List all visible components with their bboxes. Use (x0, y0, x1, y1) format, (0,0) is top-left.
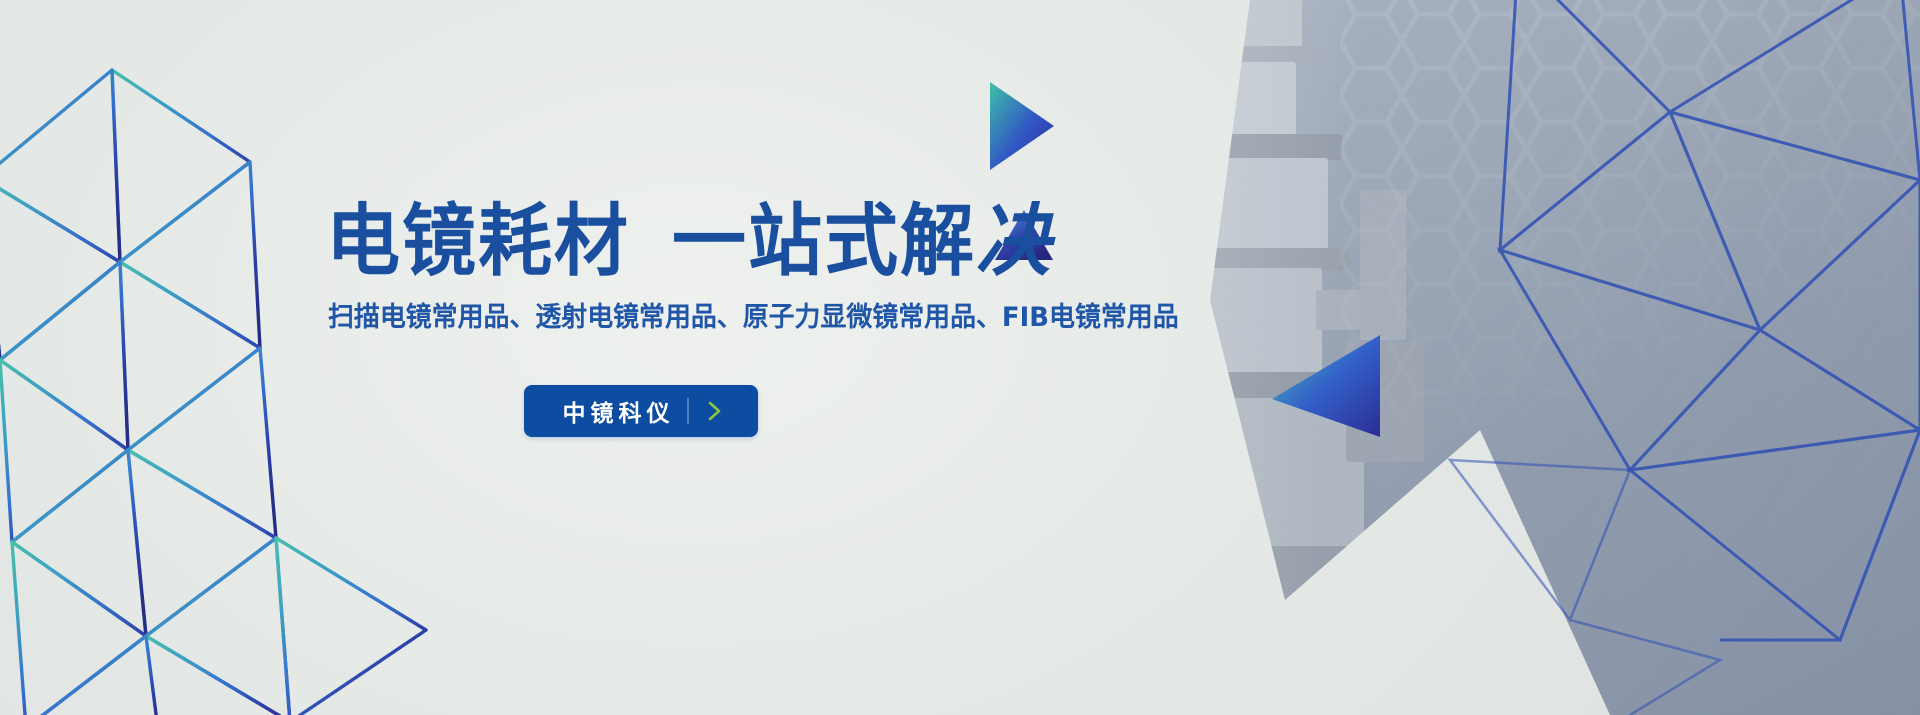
cta-button-label: 中镜科仪 (557, 394, 675, 428)
cta-divider (687, 398, 689, 424)
page-title: 电镜耗材一站式解决 (326, 196, 1052, 287)
headline-part-2: 一站式解 (672, 196, 976, 287)
headline-part-1: 电镜耗材 (326, 196, 630, 287)
cta-button[interactable]: 中镜科仪 (524, 385, 758, 437)
gradient-triangle-large (1272, 335, 1380, 437)
banner-content: 电镜耗材一站式解决 扫描电镜常用品、透射电镜常用品、原子力显微镜常用品、FIB电… (0, 0, 1060, 715)
subtitle: 扫描电镜常用品、透射电镜常用品、原子力显微镜常用品、FIB电镜常用品 (328, 300, 1179, 336)
chevron-right-icon (704, 400, 726, 422)
hero-banner: 电镜耗材一站式解决 扫描电镜常用品、透射电镜常用品、原子力显微镜常用品、FIB电… (0, 0, 1920, 715)
headline-part-3: 决 (976, 196, 1052, 287)
